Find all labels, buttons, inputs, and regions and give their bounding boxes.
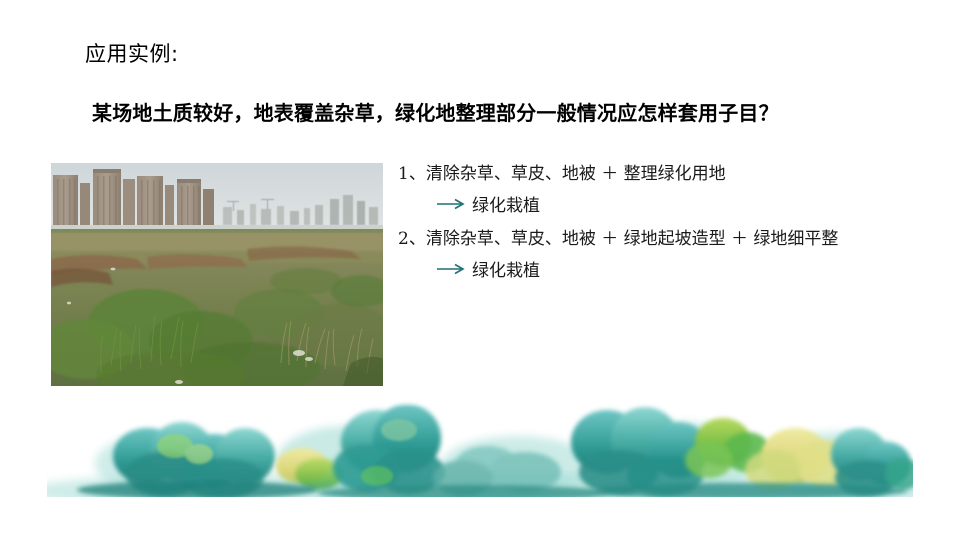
answer-result-1-label: 绿化栽植 <box>472 198 540 215</box>
watercolor-tree-banner <box>47 394 913 503</box>
arrow-right-icon <box>436 197 466 215</box>
question-text: 某场地土质较好，地表覆盖杂草，绿化地整理部分一般情况应怎样套用子目？ <box>92 97 779 126</box>
answer-result-2-label: 绿化栽植 <box>472 263 540 280</box>
answer-result-1: 绿化栽植 <box>398 197 958 215</box>
page-title: 应用实例: <box>85 38 179 68</box>
answer-line-2: 2、清除杂草、草皮、地被 ＋ 绿地起坡造型 ＋ 绿地细平整 <box>398 231 958 248</box>
answer-list: 1、清除杂草、草皮、地被 ＋ 整理绿化用地 绿化栽植 2、清除杂草、草皮、地被 … <box>398 166 958 296</box>
arrow-right-icon <box>436 262 466 280</box>
answer-result-2: 绿化栽植 <box>398 262 958 280</box>
answer-line-1: 1、清除杂草、草皮、地被 ＋ 整理绿化用地 <box>398 166 958 183</box>
slide-canvas: 应用实例: 某场地土质较好，地表覆盖杂草，绿化地整理部分一般情况应怎样套用子目？ <box>0 0 960 540</box>
site-photo <box>51 163 383 386</box>
